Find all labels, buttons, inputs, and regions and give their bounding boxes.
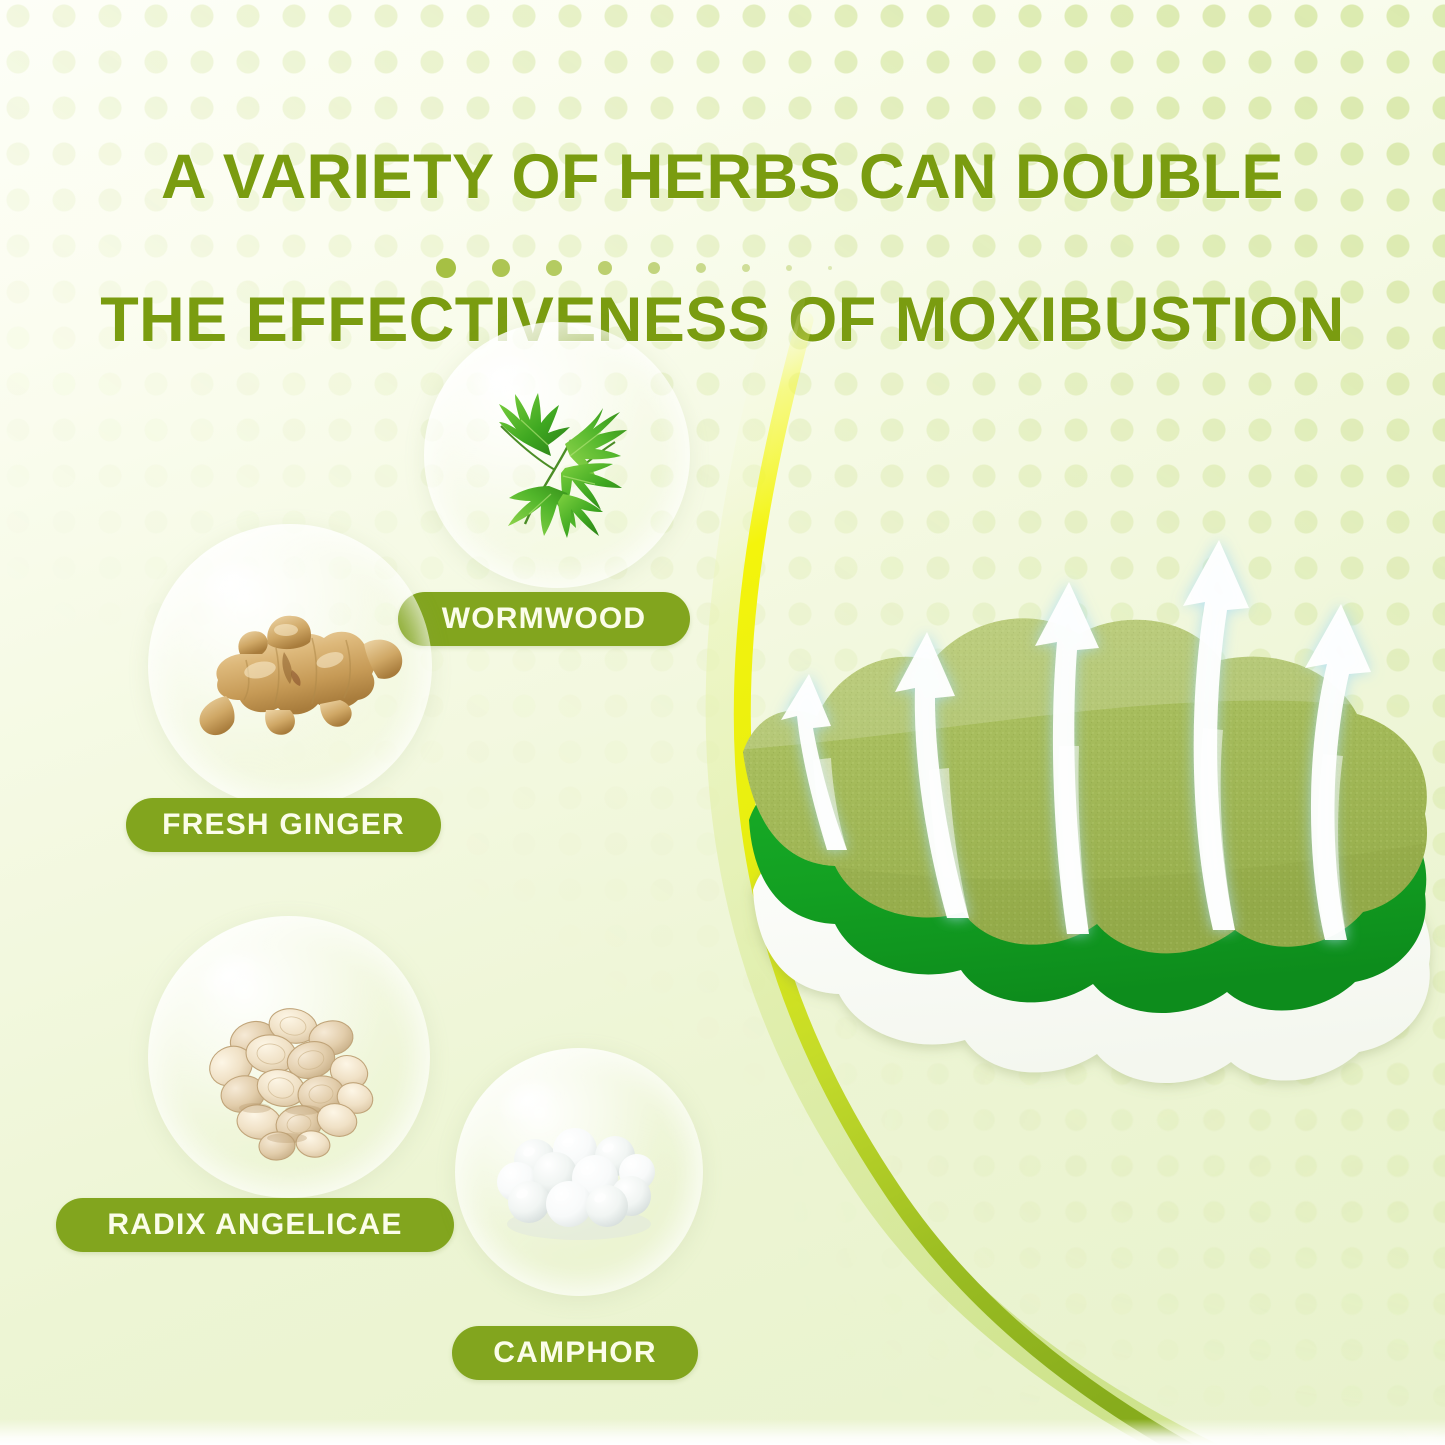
ingredient-label-wormwood: WORMWOOD (398, 592, 690, 646)
decor-dot (742, 264, 750, 272)
moxibustion-patch-diagram (735, 520, 1445, 1100)
camphor-balls-icon (455, 1048, 703, 1296)
angelica-root-slices-icon (148, 916, 430, 1198)
decor-dot (696, 263, 706, 273)
page-title-line-1: A VARIETY OF HERBS CAN DOUBLE (0, 142, 1445, 214)
ingredient-bubble-fresh-ginger (148, 524, 432, 808)
ingredient-bubble-camphor (455, 1048, 703, 1296)
ingredient-label-text: RADIX ANGELICAE (107, 1208, 402, 1242)
ingredient-label-text: CAMPHOR (493, 1336, 656, 1370)
decor-dot (598, 261, 612, 275)
decor-dot (546, 260, 562, 276)
fading-dot-row (436, 258, 868, 278)
page-title-line-2: THE EFFECTIVENESS OF MOXIBUSTION (0, 285, 1445, 357)
ingredient-bubble-wormwood (424, 322, 690, 588)
decor-dot (436, 258, 456, 278)
ingredient-label-text: WORMWOOD (442, 602, 647, 636)
decor-dot (828, 266, 832, 270)
wormwood-leaf-icon (424, 322, 690, 588)
decor-dot (492, 259, 510, 277)
ingredient-label-radix-angelicae: RADIX ANGELICAE (56, 1198, 454, 1252)
ingredient-bubble-radix-angelicae (148, 916, 430, 1198)
ingredient-label-camphor: CAMPHOR (452, 1326, 698, 1380)
ingredient-label-text: FRESH GINGER (162, 808, 405, 842)
ginger-root-icon (148, 524, 432, 808)
page-title: A VARIETY OF HERBS CAN DOUBLE THE EFFECT… (0, 70, 1445, 429)
bottom-edge-fade (0, 1419, 1445, 1445)
ingredient-label-fresh-ginger: FRESH GINGER (126, 798, 441, 852)
poster-canvas: A VARIETY OF HERBS CAN DOUBLE THE EFFECT… (0, 0, 1445, 1445)
decor-dot (648, 262, 660, 274)
decor-dot (786, 265, 792, 271)
